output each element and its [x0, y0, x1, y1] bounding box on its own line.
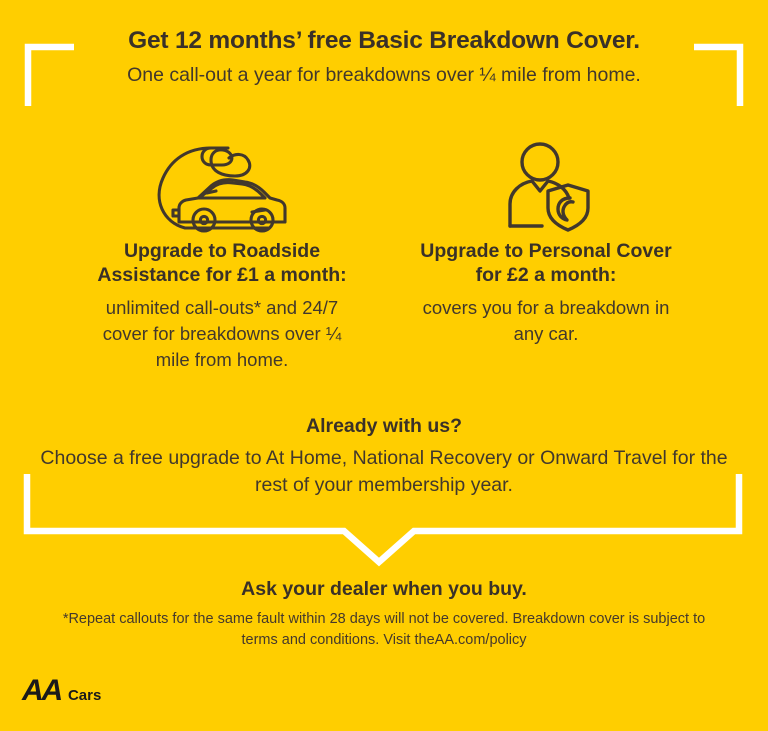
already-with-us-section: Already with us? Choose a free upgrade t…	[0, 415, 768, 499]
aa-logo-mark: AA	[22, 676, 61, 706]
feature-title: Upgrade to Personal Cover for £2 a month…	[408, 240, 684, 288]
page-title: Get 12 months’ free Basic Breakdown Cove…	[0, 26, 768, 57]
feature-roadside-assistance: Upgrade to Roadside Assistance for £1 a …	[54, 132, 384, 373]
page-subtitle: One call-out a year for breakdowns over …	[0, 63, 768, 88]
already-with-us-title: Already with us?	[0, 415, 768, 438]
feature-body: unlimited call-outs* and 24/7 cover for …	[84, 295, 360, 374]
aa-cars-logo: AA Cars	[22, 676, 101, 706]
header: Get 12 months’ free Basic Breakdown Cove…	[0, 26, 768, 88]
aa-logo-wordmark: Cars	[68, 688, 101, 703]
feature-columns: Upgrade to Roadside Assistance for £1 a …	[0, 132, 768, 373]
call-to-action-title: Ask your dealer when you buy.	[0, 578, 768, 601]
call-to-action-section: Ask your dealer when you buy. *Repeat ca…	[0, 578, 768, 650]
winding-road-car-icon	[84, 132, 360, 240]
promotional-poster: Get 12 months’ free Basic Breakdown Cove…	[0, 0, 768, 731]
person-shield-icon	[408, 132, 684, 240]
disclaimer-text: *Repeat callouts for the same fault with…	[44, 609, 724, 650]
feature-body: covers you for a breakdown in any car.	[408, 295, 684, 348]
feature-title: Upgrade to Roadside Assistance for £1 a …	[84, 240, 360, 288]
already-with-us-body: Choose a free upgrade to At Home, Nation…	[34, 445, 734, 499]
feature-personal-cover: Upgrade to Personal Cover for £2 a month…	[384, 132, 714, 347]
